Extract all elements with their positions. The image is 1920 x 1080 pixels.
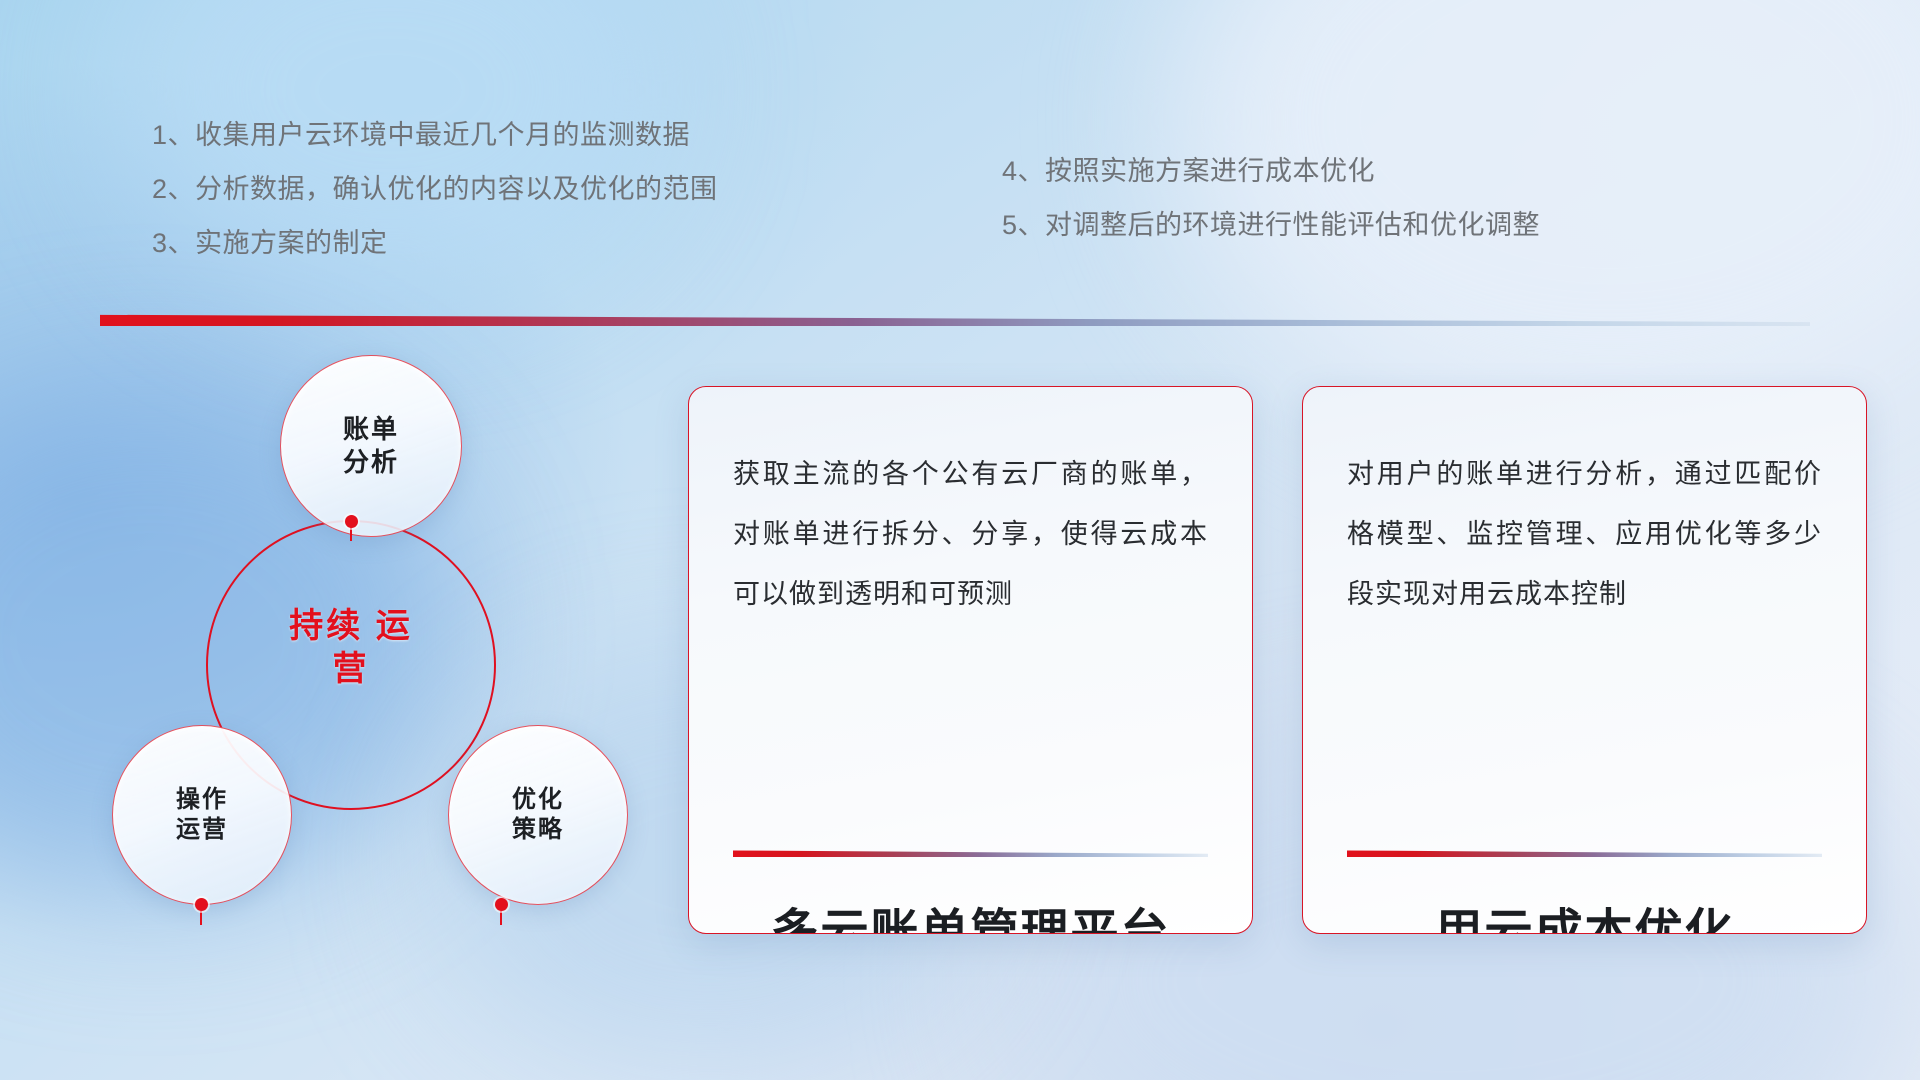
node-connector-stem (350, 527, 352, 541)
step-item: 3、实施方案的制定 (152, 230, 718, 257)
node-label-line2: 分析 (343, 446, 399, 479)
node-label-line1: 操作 (176, 785, 228, 815)
node-label-line1: 优化 (512, 785, 564, 815)
step-item: 1、收集用户云环境中最近几个月的监测数据 (152, 122, 718, 149)
steps-left-column: 1、收集用户云环境中最近几个月的监测数据 2、分析数据，确认优化的内容以及优化的… (152, 122, 718, 257)
section-divider (100, 313, 1810, 326)
card-title: 用云成本优化 (1347, 892, 1822, 934)
card-rule (733, 849, 1208, 857)
slide-canvas: 1、收集用户云环境中最近几个月的监测数据 2、分析数据，确认优化的内容以及优化的… (0, 0, 1920, 1080)
card-rule (1347, 849, 1822, 857)
diagram-node-operation[interactable]: 操作 运营 (112, 725, 292, 905)
node-connector-dot (495, 898, 508, 911)
diagram-node-bill-analysis[interactable]: 账单 分析 (280, 355, 462, 537)
diagram-node-optimization-strategy[interactable]: 优化 策略 (448, 725, 628, 905)
node-connector-stem (200, 911, 202, 925)
card-title: 多云账单管理平台 (733, 892, 1208, 934)
center-label-line1: 持续 (289, 607, 363, 645)
feature-card-multicloud-billing[interactable]: 获取主流的各个公有云厂商的账单，对账单进行拆分、分享，使得云成本可以做到透明和可… (688, 386, 1253, 934)
card-body-text: 对用户的账单进行分析，通过匹配价格模型、监控管理、应用优化等多少段实现对用云成本… (1347, 445, 1822, 625)
feature-card-cloud-cost-optimization[interactable]: 对用户的账单进行分析，通过匹配价格模型、监控管理、应用优化等多少段实现对用云成本… (1302, 386, 1867, 934)
node-connector-dot (345, 515, 358, 528)
node-label-line2: 运营 (176, 815, 228, 845)
continuous-operation-diagram: 持续 运营 账单 分析 操作 运营 优化 策略 (96, 355, 636, 955)
node-connector-stem (500, 911, 502, 925)
steps-right-column: 4、按照实施方案进行成本优化 5、对调整后的环境进行性能评估和优化调整 (1002, 158, 1540, 239)
card-body-text: 获取主流的各个公有云厂商的账单，对账单进行拆分、分享，使得云成本可以做到透明和可… (733, 445, 1208, 625)
node-connector-dot (195, 898, 208, 911)
step-item: 2、分析数据，确认优化的内容以及优化的范围 (152, 176, 718, 203)
step-item: 4、按照实施方案进行成本优化 (1002, 158, 1540, 185)
center-label: 持续 运营 (271, 605, 431, 691)
step-item: 5、对调整后的环境进行性能评估和优化调整 (1002, 212, 1540, 239)
node-label-line1: 账单 (343, 413, 399, 446)
node-label-line2: 策略 (512, 815, 564, 845)
